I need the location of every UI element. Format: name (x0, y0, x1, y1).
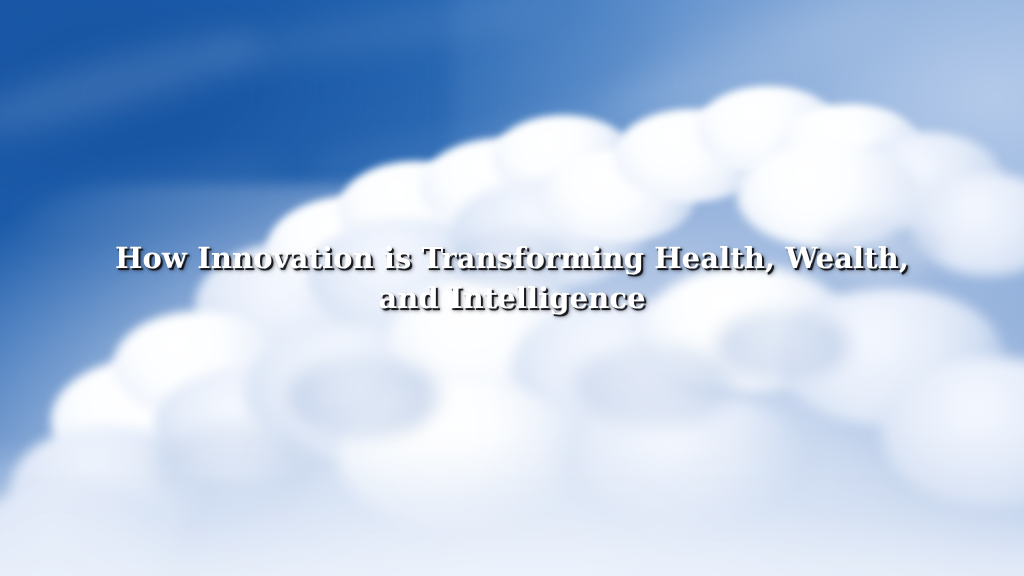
hero-banner: How Innovation is Transforming Health, W… (0, 0, 1024, 576)
cloud-shadow-crevice (573, 346, 737, 427)
cloud-bottom-haze (0, 438, 1024, 576)
page-title: How Innovation is Transforming Health, W… (84, 238, 940, 318)
cloud-shadow-crevice (287, 357, 441, 438)
cloud-shadow-crevice (717, 311, 850, 380)
title-container: How Innovation is Transforming Health, W… (0, 238, 1024, 318)
